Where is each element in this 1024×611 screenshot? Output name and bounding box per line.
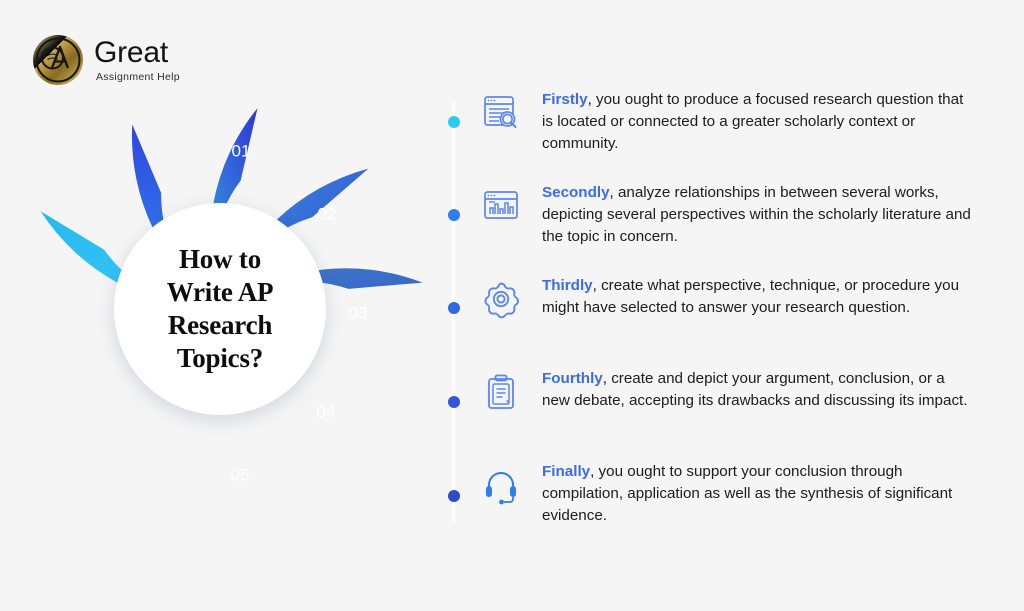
step-body-4: , create and depict your argument, concl… bbox=[542, 370, 967, 409]
step-item-5: Finally, you ought to support your concl… bbox=[478, 460, 998, 553]
brand-wordmark: Great Assignment Help bbox=[94, 38, 180, 83]
step-lead-1: Firstly bbox=[542, 91, 588, 108]
step-lead-3: Thirdly bbox=[542, 277, 593, 294]
timeline-dot-1 bbox=[448, 116, 460, 128]
wheel-number-01: 01 bbox=[232, 141, 251, 160]
wheel-number-02: 02 bbox=[318, 204, 337, 223]
timeline-dot-3 bbox=[448, 302, 460, 314]
bar-chart-window-icon bbox=[478, 183, 524, 229]
timeline-rail bbox=[452, 102, 455, 522]
step-body-5: , you ought to support your conclusion t… bbox=[542, 463, 952, 524]
process-wheel: 01 02 03 04 05 How to Write AP Research … bbox=[40, 95, 430, 525]
step-body-1: , you ought to produce a focused researc… bbox=[542, 91, 963, 152]
gear-icon bbox=[478, 276, 524, 322]
steps-list: Firstly, you ought to produce a focused … bbox=[478, 88, 998, 553]
step-item-3: Thirdly, create what perspective, techni… bbox=[478, 274, 998, 367]
step-text-2: Secondly, analyze relationships in betwe… bbox=[542, 181, 972, 248]
wheel-number-04: 04 bbox=[317, 402, 336, 421]
step-lead-5: Finally bbox=[542, 463, 590, 480]
clipboard-document-icon bbox=[478, 369, 524, 415]
step-lead-2: Secondly bbox=[542, 184, 610, 201]
step-body-3: , create what perspective, technique, or… bbox=[542, 277, 959, 316]
brand-tagline: Assignment Help bbox=[96, 72, 180, 83]
headset-icon bbox=[478, 462, 524, 508]
wheel-number-05: 05 bbox=[231, 465, 250, 484]
step-lead-4: Fourthly bbox=[542, 370, 603, 387]
step-item-2: Secondly, analyze relationships in betwe… bbox=[478, 181, 998, 274]
step-text-5: Finally, you ought to support your concl… bbox=[542, 460, 972, 527]
step-text-1: Firstly, you ought to produce a focused … bbox=[542, 88, 972, 155]
timeline-dot-4 bbox=[448, 396, 460, 408]
ga-monogram-seal-icon bbox=[32, 34, 84, 86]
wheel-hub: How to Write AP Research Topics? bbox=[114, 203, 326, 415]
brand-name: Great bbox=[94, 38, 180, 68]
step-text-3: Thirdly, create what perspective, techni… bbox=[542, 274, 972, 319]
wheel-number-03: 03 bbox=[349, 303, 368, 322]
page-title: How to Write AP Research Topics? bbox=[167, 243, 274, 375]
step-text-4: Fourthly, create and depict your argumen… bbox=[542, 367, 972, 412]
timeline-dot-2 bbox=[448, 209, 460, 221]
step-item-4: Fourthly, create and depict your argumen… bbox=[478, 367, 998, 460]
timeline-dot-5 bbox=[448, 490, 460, 502]
brand-logo: Great Assignment Help bbox=[32, 34, 180, 86]
step-item-1: Firstly, you ought to produce a focused … bbox=[478, 88, 998, 181]
document-search-icon bbox=[478, 90, 524, 136]
